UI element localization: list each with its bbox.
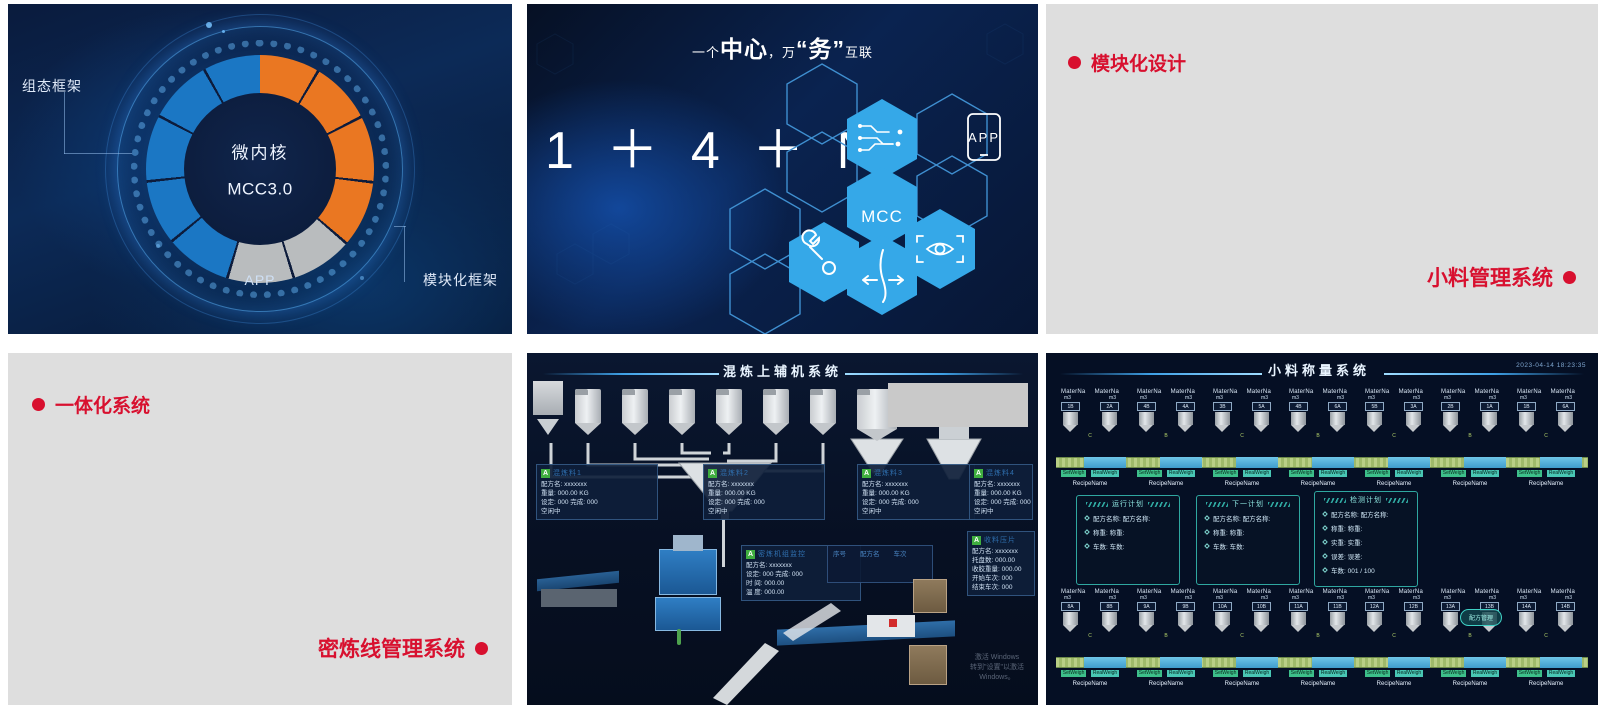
- info-box-title: 混炼料1: [553, 468, 582, 478]
- unit-label: m3: [1109, 595, 1116, 601]
- station-id-boxes: 1B 2A: [1058, 402, 1122, 411]
- info-row: 空闲中: [974, 507, 1028, 516]
- set-weight-chip: SetWeigh: [1517, 670, 1543, 677]
- real-weight-chip: RealWeigh: [1091, 670, 1119, 677]
- station-code: B: [1286, 433, 1350, 439]
- hopper[interactable]: [1482, 412, 1497, 432]
- station-id: 8A: [1061, 602, 1080, 611]
- real-weight-chip: RealWeigh: [1395, 470, 1423, 477]
- hopper[interactable]: [1406, 612, 1421, 632]
- station-id-boxes: 12A 12B: [1362, 602, 1426, 611]
- station-id-boxes: 4B 4A: [1134, 402, 1198, 411]
- station-units: m3 m3: [1058, 595, 1122, 601]
- drop-pipe: [722, 519, 725, 567]
- unit-label: m3: [1444, 395, 1451, 401]
- recipe-name-label: RecipeName: [1438, 481, 1502, 487]
- hopper[interactable]: [1215, 412, 1230, 432]
- bullet-dot-icon: [1068, 56, 1081, 69]
- weigh-station[interactable]: MaterNa MaterNa m3 m3 1B 2A C: [1058, 389, 1122, 439]
- panel-integrated-system: 一体化系统 密炼线管理系统: [8, 353, 512, 705]
- real-weight-chip: RealWeigh: [1319, 670, 1347, 677]
- diamond-bullet-icon: [1322, 539, 1328, 545]
- info-box-title: 混炼料3: [874, 468, 903, 478]
- dialog-header: 下一计划: [1197, 496, 1299, 511]
- leader-line-right-v: [404, 226, 405, 282]
- belt-station-labels: SetWeigh RealWeigh RecipeName: [1210, 661, 1274, 687]
- unit-label: m3: [1337, 395, 1344, 401]
- label-configuration-framework: 组态框架: [22, 76, 82, 96]
- title-rule-right: [1384, 373, 1584, 375]
- dialog-row: 称重: 称重:: [1077, 525, 1179, 539]
- label-app: APP: [244, 272, 275, 288]
- panel-mixing-hmi: 混炼上辅机系统: [527, 353, 1038, 705]
- station-id: 5B: [1365, 402, 1384, 411]
- diamond-bullet-icon: [1322, 511, 1328, 517]
- diamond-bullet-icon: [1322, 567, 1328, 573]
- info-row: 重量: 000.00 KG: [862, 489, 970, 498]
- weigh-station[interactable]: MaterNa MaterNa m3 m3 9A 9B B: [1134, 589, 1198, 639]
- station-units: m3 m3: [1134, 595, 1198, 601]
- info-row: 配方名: xxxxxxx: [972, 547, 1030, 556]
- station-id: 4A: [1176, 402, 1195, 411]
- hopper[interactable]: [1406, 412, 1421, 432]
- station-id: 6A: [1328, 402, 1347, 411]
- unit-label: m3: [1489, 395, 1496, 401]
- belt-station-labels: SetWeigh RealWeigh RecipeName: [1286, 461, 1350, 487]
- info-row: 配方名: xxxxxxx: [862, 480, 970, 489]
- dialog-row: 车数: 车数:: [1077, 539, 1179, 553]
- dialog-row: 误差: 误差:: [1315, 549, 1417, 563]
- real-weight-chip: RealWeigh: [1167, 670, 1195, 677]
- material-info-box[interactable]: A 混炼料4 配方名: xxxxxxx 重量: 000.00 KG 设定: 00…: [969, 464, 1033, 520]
- dialog-title: 下一计划: [1232, 499, 1264, 509]
- bullet-dot-icon: [1563, 271, 1576, 284]
- unit-label: m3: [1520, 395, 1527, 401]
- unit-label: m3: [1565, 395, 1572, 401]
- station-id: 2A: [1100, 402, 1119, 411]
- info-row: 空闲中: [541, 507, 653, 516]
- watermark-line-1: 激活 Windows: [957, 653, 1037, 663]
- hopper[interactable]: [1178, 612, 1193, 632]
- unit-label: m3: [1292, 595, 1299, 601]
- station-code: C: [1058, 433, 1122, 439]
- recipe-management-button[interactable]: 配方管理: [1460, 609, 1502, 626]
- station-code: C: [1210, 433, 1274, 439]
- panel-microkernel: 微内核 MCC3.0 组态框架 模块化框架 APP: [8, 4, 512, 334]
- hatch-decoration-icon: [1324, 498, 1346, 503]
- hopper[interactable]: [1139, 412, 1154, 432]
- schedule-table[interactable]: 序号 配方名 车次: [827, 545, 933, 583]
- hopper[interactable]: [1558, 412, 1573, 432]
- station-code: C: [1362, 433, 1426, 439]
- station-units: m3 m3: [1514, 595, 1578, 601]
- status-badge: A: [541, 469, 550, 478]
- station-id: 1B: [1061, 402, 1080, 411]
- info-box-header: A 混炼料1: [541, 468, 653, 478]
- bullet-dot-icon: [475, 642, 488, 655]
- belt-station-labels: SetWeigh RealWeigh RecipeName: [1514, 461, 1578, 487]
- elevator-cone: [537, 419, 559, 435]
- weigh-station[interactable]: MaterNa MaterNa m3 m3 1B 6A C: [1514, 389, 1578, 439]
- status-badge: A: [972, 536, 981, 545]
- belt-station-labels: SetWeigh RealWeigh RecipeName: [1514, 661, 1578, 687]
- unit-label: m3: [1368, 395, 1375, 401]
- caption-mixing-line-system: 密炼线管理系统: [318, 633, 488, 663]
- unit-label: m3: [1140, 595, 1147, 601]
- station-id: 9A: [1137, 602, 1156, 611]
- belt-station-labels: SetWeigh RealWeigh RecipeName: [1134, 661, 1198, 687]
- dialog-row: 配方名称: 配方名称:: [1315, 507, 1417, 521]
- silo[interactable]: [669, 389, 695, 435]
- mixing-hmi-title: 混炼上辅机系统: [723, 361, 842, 380]
- hopper[interactable]: [1215, 612, 1230, 632]
- set-weight-chip: SetWeigh: [1365, 670, 1391, 677]
- discharge-info-box[interactable]: A 收料压片 配方名: xxxxxxx 托盘数: 000.00 收胶重量: 00…: [967, 531, 1035, 596]
- diamond-bullet-icon: [1322, 525, 1328, 531]
- dialog-row-text: 车数: 车数:: [1093, 541, 1124, 551]
- belt-station-labels: SetWeigh RealWeigh RecipeName: [1286, 661, 1350, 687]
- dialog-row: 配方名称: 配方名称:: [1197, 511, 1299, 525]
- weigh-station[interactable]: MaterNa MaterNa m3 m3 10A 10B C: [1210, 589, 1274, 639]
- hmi-timestamp: 2023-04-14 18:23:35: [1516, 362, 1586, 369]
- hopper[interactable]: [1367, 612, 1382, 632]
- dialog-row-text: 称重: 称重:: [1093, 527, 1124, 537]
- alarm-indicator: [889, 619, 897, 627]
- hex-filled-shapes: [527, 4, 1038, 334]
- dialog-header: 运行计划: [1077, 496, 1179, 511]
- hopper[interactable]: [1558, 612, 1573, 632]
- station-units: m3 m3: [1514, 395, 1578, 401]
- recipe-name-label: RecipeName: [1058, 681, 1122, 687]
- belt-station-labels: SetWeigh RealWeigh RecipeName: [1362, 661, 1426, 687]
- hopper[interactable]: [1178, 412, 1193, 432]
- station-id: 12A: [1365, 602, 1384, 611]
- station-units: m3 m3: [1286, 595, 1350, 601]
- station-id-boxes: 8A 8B: [1058, 602, 1122, 611]
- title-rule-left: [543, 373, 719, 375]
- stairway-structure: [713, 603, 863, 705]
- recipe-name-label: RecipeName: [1514, 481, 1578, 487]
- real-weight-chip: RealWeigh: [1471, 670, 1499, 677]
- real-weight-chip: RealWeigh: [1319, 470, 1347, 477]
- hopper[interactable]: [1102, 612, 1117, 632]
- set-weight-chip: SetWeigh: [1061, 470, 1087, 477]
- weighing-hmi-title: 小料称量系统: [1268, 360, 1370, 379]
- set-weight-chip: SetWeigh: [1213, 470, 1239, 477]
- silo[interactable]: [622, 389, 648, 435]
- real-weight-chip: RealWeigh: [1547, 670, 1575, 677]
- dialog-row-text: 称重: 称重:: [1213, 527, 1244, 537]
- info-row: 重量: 000.00 KG: [974, 489, 1028, 498]
- hopper[interactable]: [1291, 412, 1306, 432]
- station-units: m3 m3: [1210, 595, 1274, 601]
- hopper[interactable]: [1367, 412, 1382, 432]
- unit-label: m3: [1216, 595, 1223, 601]
- station-id-boxes: 4B 6A: [1286, 402, 1350, 411]
- dialog-inspection-plan[interactable]: 检测计划 配方名称: 配方名称: 称重: 称重: 实重: 实重: 误差: 误差:…: [1314, 491, 1418, 587]
- station-hoppers: [1134, 412, 1198, 432]
- station-id: 11B: [1328, 602, 1347, 611]
- station-id: 3B: [1213, 402, 1232, 411]
- silo[interactable]: [575, 389, 601, 435]
- hopper[interactable]: [1254, 412, 1269, 432]
- info-box-header: A 收料压片: [972, 535, 1030, 545]
- station-id: 10A: [1213, 602, 1232, 611]
- diamond-bullet-icon: [1084, 543, 1090, 549]
- dialog-row: 车数: 001 / 100: [1315, 563, 1417, 577]
- silo[interactable]: [716, 389, 742, 435]
- dialog-row-text: 车数: 001 / 100: [1331, 565, 1375, 575]
- real-weight-chip: RealWeigh: [1471, 470, 1499, 477]
- dialog-next-plan[interactable]: 下一计划 配方名称: 配方名称: 称重: 称重: 车数: 车数:: [1196, 495, 1300, 585]
- title-rule-left: [1060, 373, 1262, 375]
- weigh-station[interactable]: MaterNa MaterNa m3 m3 5B 3A C: [1362, 389, 1426, 439]
- station-code: B: [1438, 633, 1502, 639]
- title-rule-right: [845, 373, 1023, 375]
- info-row: 设定: 000 完成: 000: [974, 498, 1028, 507]
- belt-station-labels: SetWeigh RealWeigh RecipeName: [1210, 461, 1274, 487]
- set-weight-chip: SetWeigh: [1213, 670, 1239, 677]
- info-row: 温 度: 000.00: [746, 588, 856, 597]
- hopper[interactable]: [1291, 612, 1306, 632]
- leader-line-right-h: [394, 226, 406, 227]
- unit-label: m3: [1444, 595, 1451, 601]
- hopper[interactable]: [1443, 412, 1458, 432]
- dialog-running-plan[interactable]: 运行计划 配方名称: 配方名称: 称重: 称重: 车数: 车数:: [1076, 495, 1180, 585]
- caption-modular-design-text: 模块化设计: [1091, 49, 1186, 76]
- real-weight-chip: RealWeigh: [1395, 670, 1423, 677]
- belt-station-labels: SetWeigh RealWeigh RecipeName: [1058, 661, 1122, 687]
- label-modular-framework: 模块化框架: [423, 270, 498, 290]
- hatch-decoration-icon: [1268, 502, 1290, 507]
- info-row: 设定: 000 完成: 000: [708, 498, 820, 507]
- station-id: 6A: [1556, 402, 1575, 411]
- hopper[interactable]: [1519, 612, 1534, 632]
- leader-line-left-v: [64, 92, 65, 154]
- info-row: 开始车次: 000: [972, 574, 1030, 583]
- station-units: m3 m3: [1210, 395, 1274, 401]
- station-hoppers: [1286, 612, 1350, 632]
- station-code: C: [1514, 633, 1578, 639]
- belt-station-labels: SetWeigh RealWeigh RecipeName: [1362, 461, 1426, 487]
- set-weight-chip: SetWeigh: [1137, 670, 1163, 677]
- hopper[interactable]: [1063, 412, 1078, 432]
- station-hoppers: [1210, 412, 1274, 432]
- silo[interactable]: [763, 389, 789, 435]
- station-id: 4B: [1289, 402, 1308, 411]
- dialog-row-text: 配方名称: 配方名称:: [1093, 513, 1150, 523]
- set-weight-chip: SetWeigh: [1441, 470, 1467, 477]
- unit-label: m3: [1413, 395, 1420, 401]
- dialog-row-text: 误差: 误差:: [1331, 551, 1362, 561]
- set-weight-chip: SetWeigh: [1517, 470, 1543, 477]
- recipe-name-label: RecipeName: [1210, 481, 1274, 487]
- hopper[interactable]: [1254, 612, 1269, 632]
- dialog-title: 检测计划: [1350, 495, 1382, 505]
- station-units: m3 m3: [1134, 395, 1198, 401]
- hopper[interactable]: [1330, 612, 1345, 632]
- station-units: m3 m3: [1362, 595, 1426, 601]
- unit-label: m3: [1565, 595, 1572, 601]
- info-row: 配方名: xxxxxxx: [541, 480, 653, 489]
- real-weight-chip: RealWeigh: [1091, 470, 1119, 477]
- windows-watermark: 激活 Windows 转到"设置"以激活 Windows。: [957, 653, 1037, 683]
- mixer-hopper: [673, 535, 703, 551]
- bucket-elevator[interactable]: [533, 381, 563, 415]
- watermark-line-2: 转到"设置"以激活 Windows。: [957, 663, 1037, 683]
- status-badge: A: [862, 469, 871, 478]
- set-weight-chip: SetWeigh: [1365, 470, 1391, 477]
- discharge-title: 收料压片: [984, 535, 1016, 545]
- material-info-box[interactable]: A 混炼料3 配方名: xxxxxxx 重量: 000.00 KG 设定: 00…: [857, 464, 975, 520]
- table-header-row: 序号 配方名 车次: [828, 546, 932, 560]
- caption-small-material-system: 小料管理系统: [1427, 262, 1576, 292]
- material-info-box[interactable]: A 混炼料2 配方名: xxxxxxx 重量: 000.00 KG 设定: 00…: [703, 464, 825, 520]
- station-id: 2B: [1441, 402, 1460, 411]
- station-id: 5A: [1252, 402, 1271, 411]
- mixer-base[interactable]: [655, 597, 721, 631]
- station-id: 4B: [1137, 402, 1156, 411]
- dialog-row: 车数: 车数:: [1197, 539, 1299, 553]
- weigh-station[interactable]: MaterNa MaterNa m3 m3 3B 5A C: [1210, 389, 1274, 439]
- pallet-stack[interactable]: [913, 579, 947, 613]
- station-id-boxes: 11A 11B: [1286, 602, 1350, 611]
- station-code: B: [1134, 633, 1198, 639]
- station-id: 9B: [1176, 602, 1195, 611]
- real-weight-chip: RealWeigh: [1547, 470, 1575, 477]
- recipe-name-label: RecipeName: [1362, 681, 1426, 687]
- station-id-boxes: 2B 1A: [1438, 402, 1502, 411]
- hopper[interactable]: [1519, 412, 1534, 432]
- station-id: 8B: [1100, 602, 1119, 611]
- station-id-boxes: 5B 3A: [1362, 402, 1426, 411]
- diamond-bullet-icon: [1084, 515, 1090, 521]
- hex-label-mcc: MCC: [847, 187, 917, 247]
- unit-label: m3: [1337, 595, 1344, 601]
- weigh-station[interactable]: MaterNa MaterNa m3 m3 4B 4A B: [1134, 389, 1198, 439]
- unit-label: m3: [1261, 595, 1268, 601]
- recipe-name-label: RecipeName: [1438, 681, 1502, 687]
- material-info-box[interactable]: A 混炼料1 配方名: xxxxxxx 重量: 000.00 KG 设定: 00…: [536, 464, 658, 520]
- recipe-name-label: RecipeName: [1286, 481, 1350, 487]
- table-col-header: 车次: [894, 548, 907, 558]
- station-id: 1B: [1517, 402, 1536, 411]
- real-weight-chip: RealWeigh: [1243, 470, 1271, 477]
- station-hoppers: [1362, 412, 1426, 432]
- diamond-bullet-icon: [1204, 529, 1210, 535]
- station-code: C: [1210, 633, 1274, 639]
- station-id: 14B: [1556, 602, 1575, 611]
- hatch-decoration-icon: [1148, 502, 1170, 507]
- silo[interactable]: [810, 389, 836, 435]
- status-badge: A: [708, 469, 717, 478]
- caption-integrated-system: 一体化系统: [32, 391, 150, 418]
- unit-label: m3: [1185, 395, 1192, 401]
- recipe-name-label: RecipeName: [1134, 481, 1198, 487]
- pallet-stack[interactable]: [909, 645, 947, 685]
- unit-label: m3: [1413, 595, 1420, 601]
- status-badge: A: [974, 469, 983, 478]
- mixer-monitor-title: 密炼机组监控: [758, 549, 806, 559]
- station-code: B: [1438, 433, 1502, 439]
- belt-station-labels: SetWeigh RealWeigh RecipeName: [1134, 461, 1198, 487]
- weigh-station[interactable]: MaterNa MaterNa m3 m3 14A 14B C: [1514, 589, 1578, 639]
- hex-cluster: MCC APP: [527, 4, 1038, 334]
- panel-hexagon-ecosystem: 一个中心，万“务”互联 1 ＋ 4 ＋ N: [527, 4, 1038, 334]
- dialog-header: 检测计划: [1315, 492, 1417, 507]
- info-row: 配方名: xxxxxxx: [974, 480, 1028, 489]
- hopper[interactable]: [1102, 412, 1117, 432]
- station-id: 13A: [1441, 602, 1460, 611]
- unit-label: m3: [1064, 595, 1071, 601]
- unit-label: m3: [1520, 595, 1527, 601]
- station-code: C: [1514, 433, 1578, 439]
- internal-mixer[interactable]: [659, 549, 717, 595]
- unit-label: m3: [1216, 395, 1223, 401]
- info-row: 设定: 000 完成: 000: [862, 498, 970, 507]
- weigh-station[interactable]: MaterNa MaterNa m3 m3 4B 6A B: [1286, 389, 1350, 439]
- info-row: 托盘数: 000.00: [972, 556, 1030, 565]
- recipe-name-label: RecipeName: [1514, 681, 1578, 687]
- hopper[interactable]: [1139, 612, 1154, 632]
- hopper[interactable]: [1063, 612, 1078, 632]
- station-hoppers: [1134, 612, 1198, 632]
- station-hoppers: [1362, 612, 1426, 632]
- station-hoppers: [1438, 412, 1502, 432]
- status-badge: A: [746, 550, 755, 559]
- set-weight-chip: SetWeigh: [1289, 470, 1315, 477]
- hopper[interactable]: [1443, 612, 1458, 632]
- set-weight-chip: SetWeigh: [1289, 670, 1315, 677]
- weigh-station[interactable]: MaterNa MaterNa m3 m3 12A 12B C: [1362, 589, 1426, 639]
- station-code: B: [1286, 633, 1350, 639]
- diamond-bullet-icon: [1204, 515, 1210, 521]
- weigh-station[interactable]: MaterNa MaterNa m3 m3 11A 11B B: [1286, 589, 1350, 639]
- station-id-boxes: 14A 14B: [1514, 602, 1578, 611]
- station-units: m3 m3: [1438, 395, 1502, 401]
- real-weight-chip: RealWeigh: [1167, 470, 1195, 477]
- station-code: C: [1058, 633, 1122, 639]
- info-row: 空闲中: [708, 507, 820, 516]
- caption-integrated-system-text: 一体化系统: [55, 391, 150, 418]
- blank-display-block: [888, 383, 1028, 427]
- recipe-name-label: RecipeName: [1286, 681, 1350, 687]
- dialog-row: 配方名称: 配方名称:: [1077, 511, 1179, 525]
- belt-station-labels: SetWeigh RealWeigh RecipeName: [1438, 461, 1502, 487]
- unit-label: m3: [1140, 395, 1147, 401]
- station-units: m3 m3: [1286, 395, 1350, 401]
- station-hoppers: [1210, 612, 1274, 632]
- weigh-station[interactable]: MaterNa MaterNa m3 m3 8A 8B C: [1058, 589, 1122, 639]
- dialog-row-text: 称重: 称重:: [1331, 523, 1362, 533]
- diamond-bullet-icon: [1322, 553, 1328, 559]
- weigh-station[interactable]: MaterNa MaterNa m3 m3 2B 1A B: [1438, 389, 1502, 439]
- station-code: B: [1134, 433, 1198, 439]
- unit-label: m3: [1261, 395, 1268, 401]
- dialog-title: 运行计划: [1112, 499, 1144, 509]
- info-row: 结束车次: 000: [972, 583, 1030, 592]
- panel-weighing-hmi: 小料称量系统 2023-04-14 18:23:35 MaterNa Mater…: [1046, 353, 1598, 705]
- dialog-row: 实重: 实重:: [1315, 535, 1417, 549]
- diamond-bullet-icon: [1204, 543, 1210, 549]
- kernel-line2: MCC3.0: [185, 180, 335, 200]
- hopper[interactable]: [1330, 412, 1345, 432]
- dialog-row-text: 配方名称: 配方名称:: [1213, 513, 1270, 523]
- diamond-bullet-icon: [1084, 529, 1090, 535]
- station-hoppers: [1058, 412, 1122, 432]
- station-id: 11A: [1289, 602, 1308, 611]
- info-row: 重量: 000.00 KG: [708, 489, 820, 498]
